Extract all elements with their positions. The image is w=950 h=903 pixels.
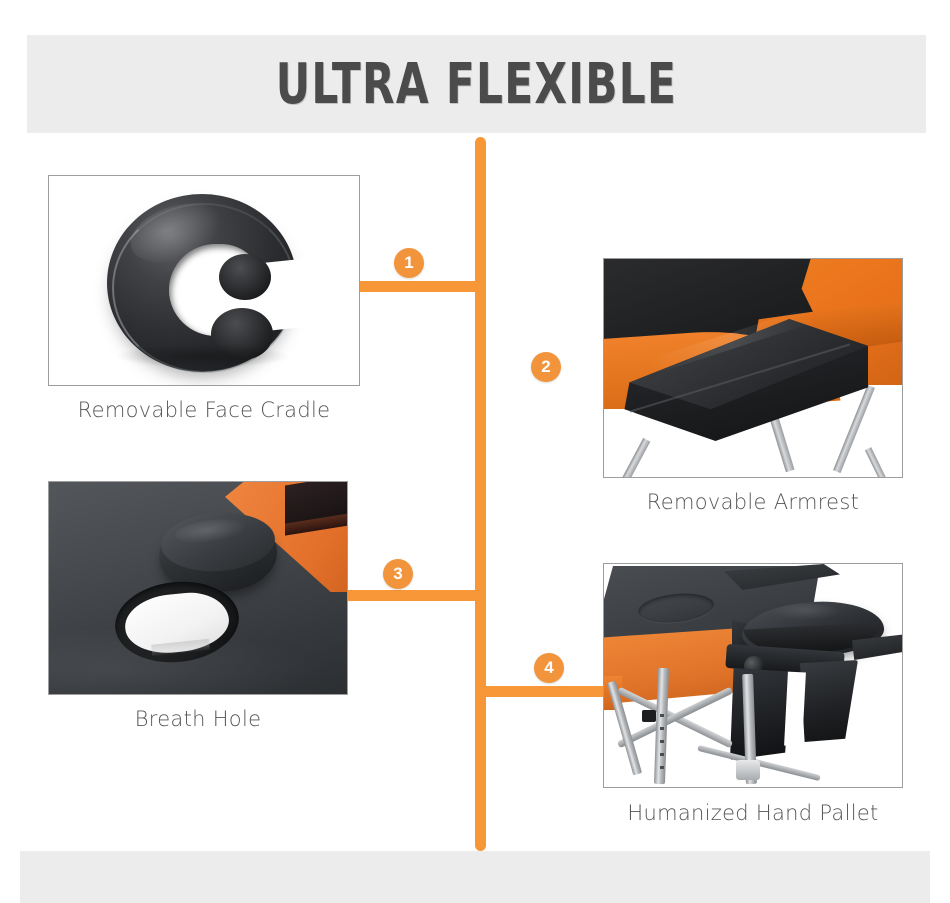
- leg-lock-clip: [642, 710, 656, 722]
- table-surface-background: [49, 482, 347, 694]
- feature-caption-2: Removable Armrest: [603, 490, 903, 514]
- photo-background: [604, 564, 902, 787]
- feature-caption-3: Breath Hole: [48, 707, 348, 731]
- footer-band: [20, 851, 930, 903]
- connector-branch-4: [479, 686, 605, 697]
- photo-background: [604, 259, 902, 477]
- connector-spine: [475, 137, 486, 851]
- feature-caption-4: Humanized Hand Pallet: [603, 801, 903, 825]
- callout-number-2: 2: [531, 352, 561, 382]
- page-title: ULTRA FLEXIBLE: [99, 35, 854, 133]
- armrest-photo: [603, 258, 903, 478]
- cradle-drop-shadow: [117, 344, 289, 368]
- connector-branch-3: [347, 590, 482, 601]
- face-cradle-highlight: [774, 604, 840, 620]
- leg-height-holes: [660, 714, 664, 770]
- cradle-tip-upper: [219, 254, 271, 300]
- feature-caption-1: Removable Face Cradle: [48, 398, 360, 422]
- leg-foot: [736, 760, 760, 780]
- table-surface-sheen: [49, 622, 348, 695]
- callout-number-1: 1: [394, 248, 424, 278]
- photo-background: [49, 176, 359, 385]
- callout-number-3: 3: [383, 559, 413, 589]
- hand-pallet-sling-left: [730, 668, 790, 760]
- hand-pallet-photo: [603, 563, 903, 788]
- face-cradle-photo: [48, 175, 360, 386]
- breath-hole-photo: [48, 481, 348, 695]
- callout-number-4: 4: [534, 653, 564, 683]
- hand-pallet-sling-right: [800, 660, 858, 742]
- hand-pallet-sling-gap: [784, 672, 806, 747]
- connector-branch-1: [347, 281, 482, 292]
